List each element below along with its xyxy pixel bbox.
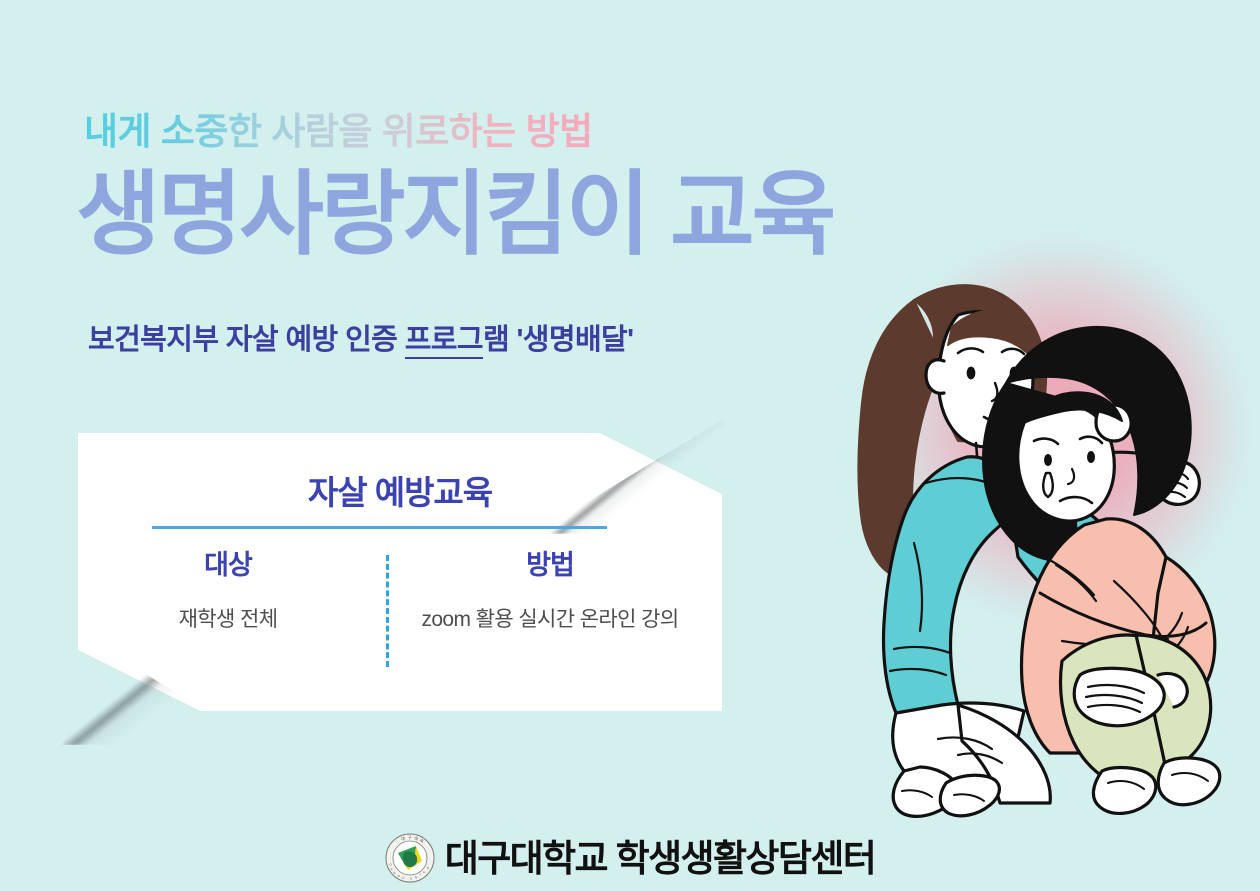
card-column-target-label: 대상 — [78, 551, 378, 581]
card-column-method-value: zoom 활용 실시간 온라인 강의 — [378, 607, 722, 632]
card-column-divider — [386, 555, 389, 667]
poster-tagline: 내게 소중한 사람을 위로하는 방법 — [84, 101, 593, 155]
poster-root: 내게 소중한 사람을 위로하는 방법 생명사랑지킴이 교육 보건복지부 자살 예… — [0, 0, 1260, 891]
svg-text:U: U — [410, 876, 413, 880]
footer: · 대 구 대 학 D A E G U U N I V E — [0, 833, 1260, 883]
svg-text:대: 대 — [401, 835, 405, 841]
info-card: 자살 예방교육 대상 재학생 전체 방법 zoom 활용 실시간 온라인 강의 — [78, 433, 722, 711]
card-column-method-label: 방법 — [378, 551, 722, 581]
card-column-method: 방법 zoom 활용 실시간 온라인 강의 — [378, 551, 722, 632]
card-column-target-value: 재학생 전체 — [78, 607, 378, 632]
card-columns: 대상 재학생 전체 방법 zoom 활용 실시간 온라인 강의 — [78, 551, 722, 632]
footer-organization-name: 대구대학교 학생생활상담센터 — [445, 840, 875, 877]
card-title-divider — [152, 526, 607, 529]
svg-text:구: 구 — [408, 835, 412, 840]
svg-text:대: 대 — [414, 835, 418, 841]
illustration-two-women-embrace — [762, 243, 1260, 821]
card-title: 자살 예방교육 — [78, 466, 722, 514]
svg-text:학: 학 — [420, 838, 424, 844]
daegu-university-seal-icon: · 대 구 대 학 D A E G U U N I V E — [385, 833, 435, 883]
subtitle-suffix: 램 '생명배달' — [483, 324, 633, 356]
svg-text:·: · — [396, 838, 397, 843]
card-column-target: 대상 재학생 전체 — [78, 551, 378, 632]
poster-subtitle: 보건복지부 자살 예방 인증 프로그램 '생명배달' — [88, 316, 633, 358]
subtitle-underlined-part: 프로그 — [405, 324, 483, 359]
page-title: 생명사랑지킴이 교육 — [76, 166, 833, 265]
subtitle-prefix: 보건복지부 자살 예방 인증 — [88, 324, 405, 356]
